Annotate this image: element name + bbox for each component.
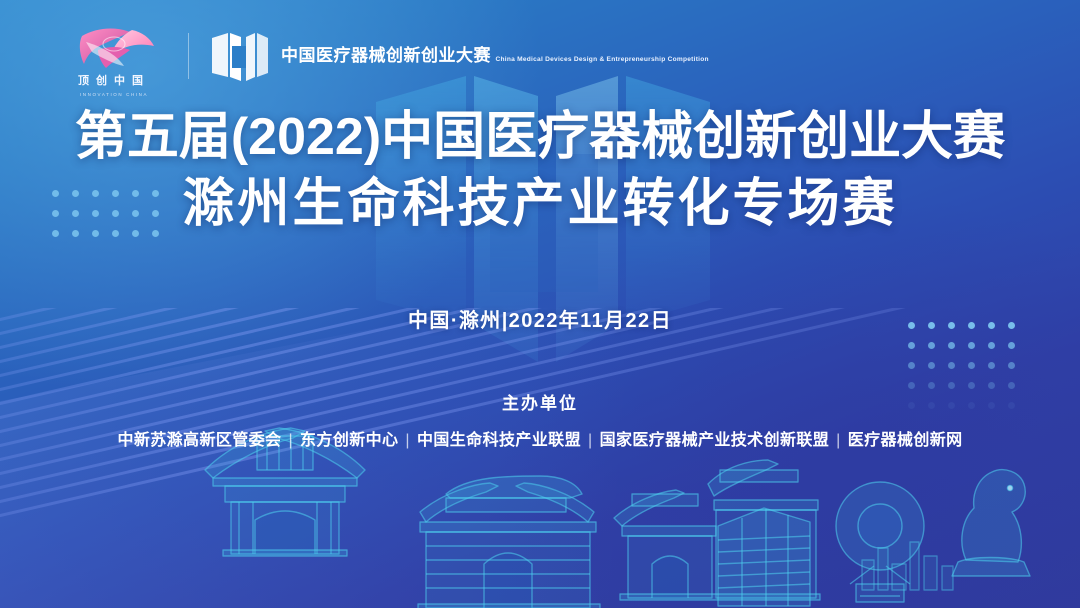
phoenix-logo-cn: 顶创中国: [62, 76, 166, 87]
organizer-separator: |: [405, 432, 410, 449]
title-line-1: 第五届(2022)中国医疗器械创新创业大赛: [0, 108, 1080, 166]
organizer-item: 医疗器械创新网: [848, 432, 963, 449]
phoenix-logo-en: INNOVATION CHINA: [62, 93, 166, 98]
city-skyline-buildings: [862, 542, 953, 590]
title-line-2: 滁州生命科技产业转化专场赛: [0, 172, 1080, 238]
merlion-statue: [952, 470, 1030, 576]
modern-office-tower: [718, 508, 810, 606]
organizer-separator: |: [588, 432, 593, 449]
competition-logo: 中国医疗器械创新创业大赛 China Medical Devices Desig…: [211, 31, 709, 81]
organizer-item: 中新苏滁高新区管委会: [117, 432, 281, 449]
phoenix-bird-icon: [62, 24, 166, 74]
competition-logo-en: China Medical Devices Design & Entrepren…: [495, 56, 708, 63]
logo-divider: [188, 33, 189, 79]
chinese-memorial-arch: [614, 460, 820, 600]
poster-headline: 第五届(2022)中国医疗器械创新创业大赛 滁州生命科技产业转化专场赛: [0, 108, 1080, 238]
organizer-separator: |: [836, 432, 841, 449]
organizer-item: 中国生命科技产业联盟: [417, 432, 581, 449]
date-location-line: 中国·滁州|2022年11月22日: [0, 304, 1080, 333]
chinese-archway-gate: [418, 476, 600, 608]
organizer-item: 国家医疗器械产业技术创新联盟: [600, 432, 830, 449]
open-door-mark-icon: [211, 31, 269, 81]
circular-ring-sculpture: [836, 482, 924, 602]
organizers-list: 中新苏滁高新区管委会|东方创新中心|中国生命科技产业联盟|国家医疗器械产业技术创…: [0, 426, 1080, 450]
logo-bar: 顶创中国 INNOVATION CHINA 中国医疗器械创新创业大赛 China…: [62, 24, 709, 88]
competition-logo-cn: 中国医疗器械创新创业大赛: [281, 46, 491, 65]
phoenix-logo: 顶创中国 INNOVATION CHINA: [62, 24, 166, 88]
organizer-item: 东方创新中心: [300, 432, 398, 449]
organizers-label: 主办单位: [0, 389, 1080, 414]
poster-canvas: 顶创中国 INNOVATION CHINA 中国医疗器械创新创业大赛 China…: [0, 0, 1080, 608]
organizer-separator: |: [288, 432, 293, 449]
